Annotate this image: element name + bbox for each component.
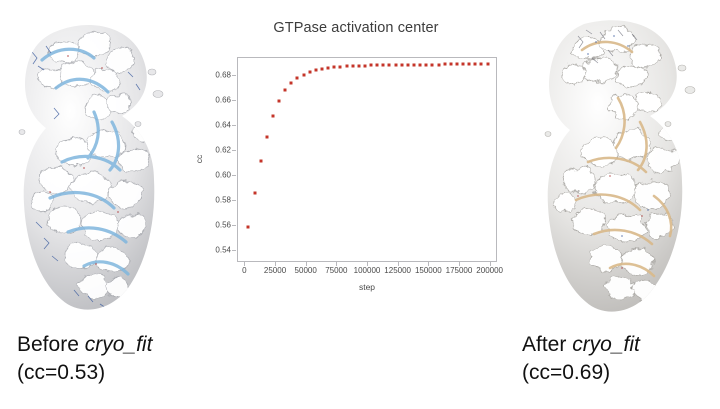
data-point	[363, 64, 366, 67]
data-point	[314, 69, 317, 72]
data-point	[462, 63, 465, 66]
y-tick-mark	[232, 225, 236, 226]
data-point	[437, 63, 440, 66]
data-point	[431, 63, 434, 66]
x-tick-label: 25000	[264, 266, 286, 275]
data-point	[278, 99, 281, 102]
data-point	[259, 160, 262, 163]
data-point	[406, 63, 409, 66]
molecule-image-after	[522, 10, 712, 322]
y-tick-mark	[232, 75, 236, 76]
cc-vs-step-chart: GTPase activation center 0.540.560.580.6…	[196, 14, 516, 304]
caption-before-cc: (cc=0.53)	[17, 359, 152, 387]
data-point	[455, 63, 458, 66]
caption-after-italic: cryo_fit	[572, 333, 640, 356]
y-tick-mark	[232, 100, 236, 101]
chart-title: GTPase activation center	[196, 20, 516, 36]
data-point	[400, 63, 403, 66]
x-tick-label: 200000	[476, 266, 503, 275]
data-point	[486, 63, 489, 66]
data-point	[308, 71, 311, 74]
y-tick-label: 0.54	[171, 246, 231, 255]
data-point	[290, 82, 293, 85]
data-point	[376, 64, 379, 67]
data-point	[443, 63, 446, 66]
y-tick-label: 0.64	[171, 121, 231, 130]
caption-after-cc: (cc=0.69)	[522, 359, 640, 387]
x-tick-label: 50000	[295, 266, 317, 275]
caption-before: Before cryo_fit (cc=0.53)	[17, 331, 152, 387]
data-point	[412, 63, 415, 66]
y-tick-label: 0.60	[171, 171, 231, 180]
data-point	[351, 65, 354, 68]
x-tick-label: 0	[242, 266, 246, 275]
y-tick-label: 0.56	[171, 221, 231, 230]
data-point	[296, 77, 299, 80]
data-point	[265, 135, 268, 138]
data-point	[425, 63, 428, 66]
data-point	[321, 68, 324, 71]
data-point	[247, 226, 250, 229]
data-point	[388, 63, 391, 66]
y-tick-label: 0.68	[171, 71, 231, 80]
data-point	[327, 67, 330, 70]
data-point	[474, 63, 477, 66]
y-tick-label: 0.66	[171, 96, 231, 105]
y-tick-mark	[232, 250, 236, 251]
x-tick-label: 75000	[325, 266, 347, 275]
data-point	[449, 63, 452, 66]
data-point	[394, 63, 397, 66]
data-point	[480, 63, 483, 66]
data-point	[284, 88, 287, 91]
x-tick-label: 100000	[354, 266, 381, 275]
y-tick-mark	[232, 150, 236, 151]
x-axis-label: step	[237, 282, 497, 292]
x-tick-label: 150000	[415, 266, 442, 275]
caption-after: After cryo_fit (cc=0.69)	[522, 331, 640, 387]
caption-before-italic: cryo_fit	[85, 333, 153, 356]
figure-canvas: GTPase activation center 0.540.560.580.6…	[0, 0, 720, 409]
y-tick-mark	[232, 200, 236, 201]
caption-after-prefix: After	[522, 333, 572, 356]
data-point	[271, 115, 274, 118]
data-point	[468, 63, 471, 66]
data-point	[302, 73, 305, 76]
y-tick-label: 0.58	[171, 196, 231, 205]
x-tick-label: 125000	[384, 266, 411, 275]
plot-area: 0.540.560.580.600.620.640.660.6802500050…	[196, 44, 516, 304]
y-axis-label: cc	[194, 155, 204, 164]
x-tick-label: 175000	[446, 266, 473, 275]
data-point	[370, 64, 373, 67]
data-point	[382, 64, 385, 67]
data-point	[339, 65, 342, 68]
plot-frame	[237, 57, 497, 262]
y-tick-mark	[232, 125, 236, 126]
y-tick-mark	[232, 175, 236, 176]
data-point	[333, 66, 336, 69]
data-point	[345, 65, 348, 68]
molecule-image-before	[2, 12, 182, 322]
caption-before-prefix: Before	[17, 333, 85, 356]
data-point	[419, 63, 422, 66]
data-point	[357, 64, 360, 67]
data-point	[253, 192, 256, 195]
